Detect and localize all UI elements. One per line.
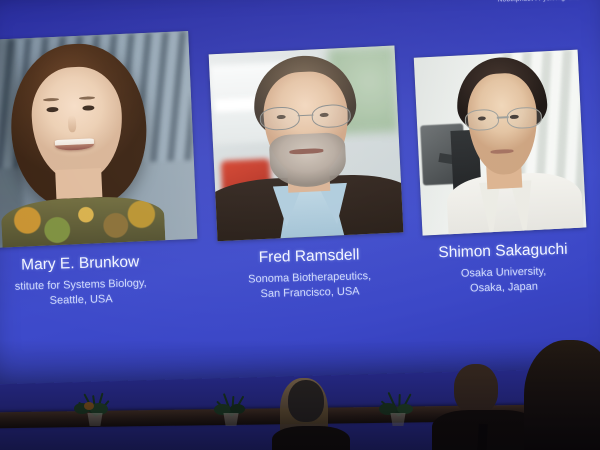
laureate-affiliation-3-line2: Osaka, Japan — [422, 279, 586, 298]
laureate-photo-3 — [414, 50, 587, 236]
laureate-photo-2 — [209, 45, 404, 241]
laureate-card-2: Fred Ramsdell Sonoma Biotherapeutics, Sa… — [211, 47, 404, 302]
screenshot-root: The Nobel Prize in Physiology or M Nobel… — [0, 0, 600, 450]
portrait-eyeglasses — [464, 107, 542, 129]
portrait-nose — [68, 115, 77, 132]
slide-header-line-sv: Nobelpriset i Fysiologi elle — [486, 0, 600, 5]
projection-slide: The Nobel Prize in Physiology or M Nobel… — [0, 0, 600, 384]
laureate-name-3: Shimon Sakaguchi — [421, 241, 585, 262]
laureate-name-1: Mary E. Brunkow — [0, 253, 196, 276]
laureate-name-2: Fred Ramsdell — [216, 246, 402, 267]
portrait-neck — [55, 168, 103, 199]
laureate-card-3: Shimon Sakaguchi Osaka University, Osaka… — [416, 51, 586, 297]
portrait-eyeglasses — [260, 104, 352, 129]
auditorium-foreground — [0, 340, 600, 450]
slide-header: The Nobel Prize in Physiology or M Nobel… — [486, 0, 600, 5]
laureate-photo-1 — [0, 31, 197, 249]
laureate-card-1: Mary E. Brunkow stitute for Systems Biol… — [0, 33, 197, 311]
ambient-shadow-overlay — [0, 340, 600, 450]
